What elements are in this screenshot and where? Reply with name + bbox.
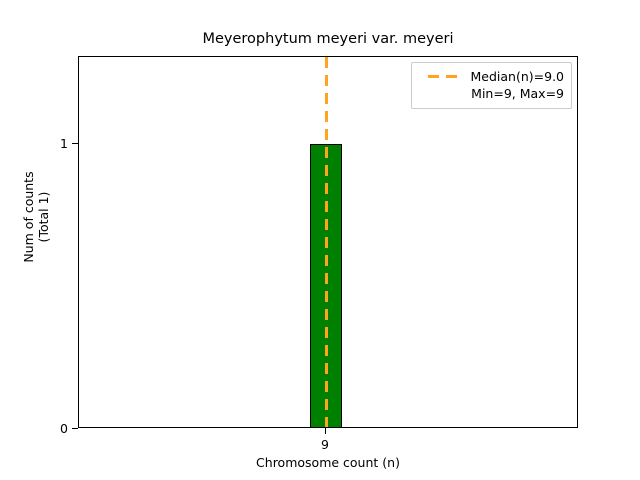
y-tick-label-1: 1 bbox=[52, 136, 68, 151]
y-axis-label: Num of counts(Total 1) bbox=[21, 31, 51, 403]
y-axis-label-line1: Num of counts bbox=[21, 171, 36, 262]
x-tick-label-9: 9 bbox=[321, 437, 329, 452]
x-tick-mark-9 bbox=[325, 428, 326, 434]
legend-label-minmax: Min=9, Max=9 bbox=[471, 86, 564, 101]
median-line bbox=[325, 57, 328, 428]
matplotlib-figure: Meyerophytum meyeri var. meyeri 0 1 9 Ch… bbox=[0, 0, 640, 480]
legend: Median(n)=9.0 Min=9, Max=9 bbox=[411, 62, 572, 109]
y-tick-label-0: 0 bbox=[52, 421, 68, 436]
x-axis-label: Chromosome count (n) bbox=[78, 455, 578, 470]
legend-item-minmax: Min=9, Max=9 bbox=[419, 85, 564, 102]
page-title: Meyerophytum meyeri var. meyeri bbox=[78, 30, 578, 48]
plot-area bbox=[78, 56, 578, 428]
y-axis-label-line2: (Total 1) bbox=[36, 192, 51, 243]
legend-item-median: Median(n)=9.0 bbox=[419, 68, 564, 85]
legend-label-median: Median(n)=9.0 bbox=[471, 69, 565, 84]
dashed-line-icon bbox=[428, 68, 462, 85]
